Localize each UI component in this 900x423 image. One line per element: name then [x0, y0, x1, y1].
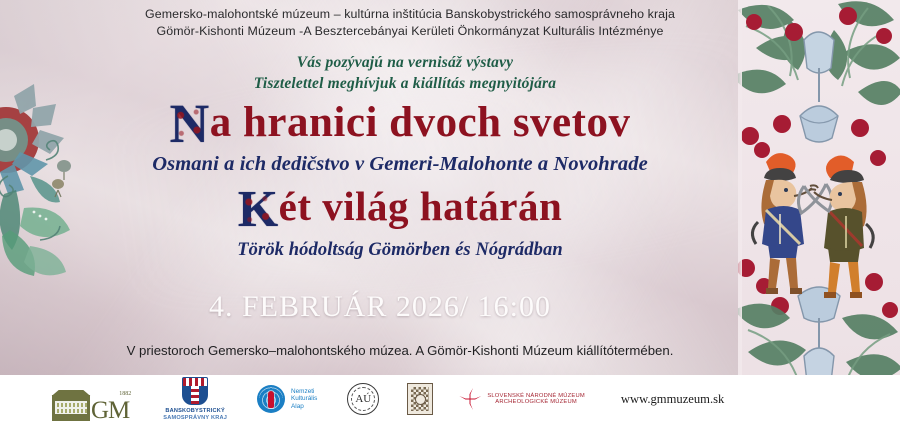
snm-line2: ARCHEOLOGICKÉ MÚZEUM [487, 399, 585, 405]
nka-caption: Nemzeti Kulturális Alap [291, 388, 317, 410]
snm-caption: SLOVENSKÉ NÁRODNÉ MÚZEUM ARCHEOLOGICKÉ M… [487, 393, 585, 406]
subtitle-hungarian: Török hódoltság Gömörben és Nógrádban [70, 240, 730, 261]
banske-muzeum-logo [407, 377, 433, 421]
round-seal-icon: AÚ [347, 383, 379, 415]
slovenske-narodne-muzeum-logo: SLOVENSKÉ NÁRODNÉ MÚZEUM ARCHEOLOGICKÉ M… [459, 377, 585, 421]
title-slovak-rest: a hranici dvoch svetov [210, 99, 631, 146]
square-emblem-icon [407, 383, 433, 415]
gm-museum-logo: GM 1882 [52, 377, 129, 421]
subtitle-slovak: Osmani a ich dedičstvo v Gemeri-Malohont… [70, 153, 730, 176]
nka-line3: Alap [291, 403, 317, 410]
aua-monogram: AÚ [348, 393, 378, 405]
bbsk-line1: BANSKOBYSTRICKÝ [163, 408, 227, 414]
nemzeti-kulturalis-alap-logo: Nemzeti Kulturális Alap [257, 377, 317, 421]
invitation-poster: Gemersko-malohontské múzeum – kultúrna i… [0, 0, 900, 423]
title-hungarian: Két világ határán [70, 184, 730, 236]
banskobystricky-kraj-logo: BANSKOBYSTRICKÝ SAMOSPRÁVNY KRAJ [163, 377, 227, 421]
event-venue: V priestoroch Gemersko–malohontského múz… [40, 343, 760, 358]
title-slovak: Na hranici dvoch svetov [70, 96, 730, 151]
right-folk-art-ornament [738, 0, 900, 423]
museum-header: Gemersko-malohontské múzeum – kultúrna i… [60, 6, 760, 40]
nka-emblem-icon [257, 385, 285, 413]
header-line-sk: Gemersko-malohontské múzeum – kultúrna i… [60, 6, 760, 23]
invitation-line-hu: Tisztelettel meghívjuk a kiállítás megny… [140, 73, 670, 94]
gm-monogram: GM 1882 [91, 400, 129, 421]
title-hungarian-rest: ét világ határán [279, 183, 563, 229]
website-url[interactable]: www.gmmuzeum.sk [621, 392, 724, 407]
sponsor-logo-bar: GM 1882 BANSKOBYSTRICKÝ SAMOSPRÁVNY KRAJ… [0, 375, 900, 423]
invitation-text: Vás pozývajú na vernisáž výstavy Tisztel… [140, 52, 670, 94]
illuminated-initial-k: K [238, 184, 279, 236]
illuminated-initial-n: N [170, 96, 210, 151]
gm-letters-text: GM [91, 397, 129, 423]
coat-of-arms-icon [182, 377, 208, 405]
archeologicky-ustav-logo: AÚ [347, 377, 379, 421]
left-embroidery-ornament [0, 0, 78, 423]
invitation-line-sk: Vás pozývajú na vernisáž výstavy [140, 52, 670, 73]
nka-line2: Kulturális [291, 395, 317, 402]
event-date: 4. FEBRUÁR 2026/ 16:00 [70, 290, 690, 324]
snm-star-cross-icon [459, 388, 481, 410]
gm-founding-year: 1882 [119, 392, 131, 397]
exhibition-titles: Na hranici dvoch svetov Osmani a ich ded… [70, 96, 730, 261]
nka-line1: Nemzeti [291, 388, 317, 395]
bbsk-line2: SAMOSPRÁVNY KRAJ [163, 415, 227, 421]
header-line-hu: Gömör-Kishonti Múzeum -A Besztercebányai… [60, 23, 760, 40]
bbsk-caption: BANSKOBYSTRICKÝ SAMOSPRÁVNY KRAJ [163, 408, 227, 421]
museum-building-icon [52, 395, 90, 421]
